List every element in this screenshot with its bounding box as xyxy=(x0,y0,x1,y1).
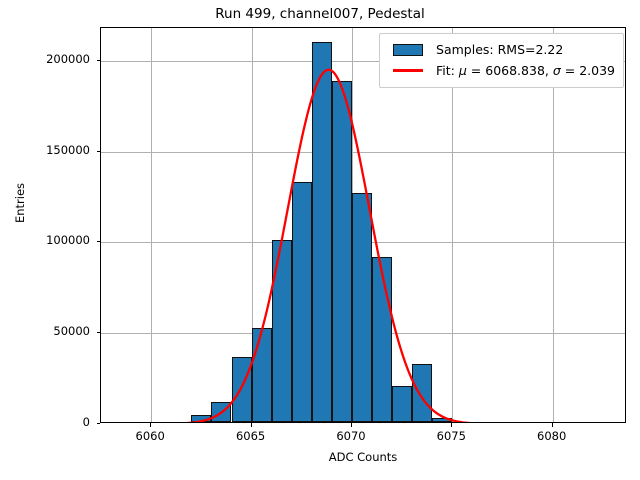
y-tick-mark xyxy=(97,332,101,333)
y-tick-label: 50000 xyxy=(0,324,90,338)
x-tick-mark xyxy=(451,423,452,427)
legend-box: Samples: RMS=2.22 Fit: μ = 6068.838, σ =… xyxy=(379,33,624,88)
x-tick-mark xyxy=(552,423,553,427)
x-tick-label: 6070 xyxy=(316,429,386,443)
x-tick-mark xyxy=(150,423,151,427)
x-tick-mark xyxy=(251,423,252,427)
y-axis-label: Entries xyxy=(13,158,27,248)
y-tick-label: 150000 xyxy=(0,143,90,157)
legend-fit-mu-symbol: μ xyxy=(459,63,467,78)
x-tick-label: 6060 xyxy=(115,429,185,443)
legend-label-fit: Fit: μ = 6068.838, σ = 2.039 xyxy=(436,63,615,78)
y-tick-label: 200000 xyxy=(0,52,90,66)
y-tick-mark xyxy=(97,423,101,424)
x-tick-label: 6075 xyxy=(416,429,486,443)
legend-fit-sigma-symbol: σ xyxy=(553,63,561,78)
chart-title: Run 499, channel007, Pedestal xyxy=(0,6,640,22)
legend-entry-fit: Fit: μ = 6068.838, σ = 2.039 xyxy=(388,60,615,81)
y-tick-mark xyxy=(97,60,101,61)
legend-entry-samples: Samples: RMS=2.22 xyxy=(388,39,615,60)
legend-fit-prefix: Fit: xyxy=(436,63,459,78)
legend-label-samples: Samples: RMS=2.22 xyxy=(436,42,563,57)
x-tick-mark xyxy=(351,423,352,427)
x-tick-label: 6065 xyxy=(216,429,286,443)
y-tick-label: 0 xyxy=(0,415,90,429)
legend-line-fit xyxy=(388,69,428,71)
figure-canvas: Run 499, channel007, Pedestal 6060606560… xyxy=(0,0,640,480)
y-tick-mark xyxy=(97,241,101,242)
legend-fit-sigma-value: = 2.039 xyxy=(561,63,615,78)
x-tick-label: 6080 xyxy=(517,429,587,443)
legend-swatch-samples xyxy=(388,44,428,56)
y-tick-mark xyxy=(97,151,101,152)
legend-fit-mu-value: = 6068.838, xyxy=(467,63,553,78)
x-axis-label: ADC Counts xyxy=(100,450,626,464)
